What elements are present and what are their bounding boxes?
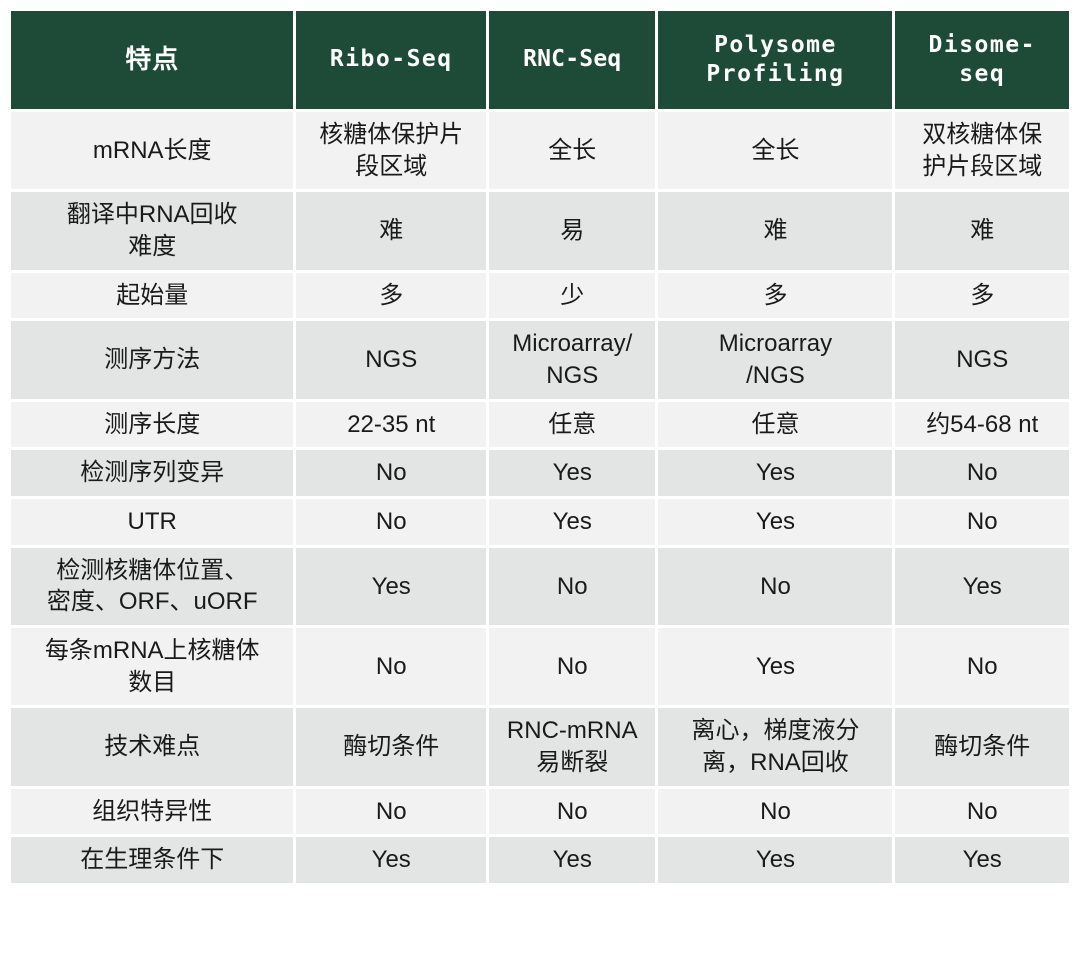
row-feature-label: 起始量 [11,273,293,319]
row-feature-label: 每条mRNA上核糖体 数目 [11,628,293,705]
cell-poly: 多 [658,273,892,319]
row-feature-label: 翻译中RNA回收 难度 [11,192,293,269]
column-header-polysome-profiling: Polysome Profiling [658,11,892,109]
table-row: 测序方法NGSMicroarray/ NGSMicroarray /NGSNGS [11,321,1069,398]
cell-ribo: NGS [296,321,486,398]
cell-rnc: Yes [489,837,655,883]
cell-poly: 任意 [658,402,892,448]
cell-poly: No [658,548,892,625]
cell-disome: No [895,499,1069,545]
cell-rnc: No [489,548,655,625]
cell-poly: Yes [658,450,892,496]
cell-disome: 多 [895,273,1069,319]
row-feature-label: 检测核糖体位置、 密度、ORF、uORF [11,548,293,625]
cell-rnc: RNC-mRNA 易断裂 [489,708,655,785]
cell-ribo: 22-35 nt [296,402,486,448]
cell-rnc: Microarray/ NGS [489,321,655,398]
cell-poly: No [658,789,892,835]
row-feature-label: UTR [11,499,293,545]
column-header-disome-seq: Disome- seq [895,11,1069,109]
cell-poly: 全长 [658,112,892,189]
table-row: 起始量多少多多 [11,273,1069,319]
cell-rnc: No [489,789,655,835]
cell-rnc: 全长 [489,112,655,189]
row-feature-label: 测序长度 [11,402,293,448]
comparison-table-container: 特点 Ribo-Seq RNC-Seq Polysome Profiling D… [0,0,1080,980]
cell-ribo: 核糖体保护片 段区域 [296,112,486,189]
cell-disome: Yes [895,548,1069,625]
cell-disome: No [895,450,1069,496]
row-feature-label: mRNA长度 [11,112,293,189]
row-feature-label: 测序方法 [11,321,293,398]
table-row: 检测核糖体位置、 密度、ORF、uORFYesNoNoYes [11,548,1069,625]
cell-poly: Yes [658,837,892,883]
column-header-feature: 特点 [11,11,293,109]
table-body: mRNA长度核糖体保护片 段区域全长全长双核糖体保 护片段区域翻译中RNA回收 … [11,112,1069,883]
cell-ribo: Yes [296,837,486,883]
cell-ribo: No [296,628,486,705]
table-row: 测序长度22-35 nt任意任意约54-68 nt [11,402,1069,448]
table-row: 技术难点酶切条件RNC-mRNA 易断裂离心，梯度液分 离，RNA回收酶切条件 [11,708,1069,785]
row-feature-label: 检测序列变异 [11,450,293,496]
cell-disome: 约54-68 nt [895,402,1069,448]
cell-disome: 双核糖体保 护片段区域 [895,112,1069,189]
table-row: mRNA长度核糖体保护片 段区域全长全长双核糖体保 护片段区域 [11,112,1069,189]
row-feature-label: 组织特异性 [11,789,293,835]
cell-poly: Yes [658,499,892,545]
cell-disome: NGS [895,321,1069,398]
header-row: 特点 Ribo-Seq RNC-Seq Polysome Profiling D… [11,11,1069,109]
cell-disome: 难 [895,192,1069,269]
cell-disome: 酶切条件 [895,708,1069,785]
cell-disome: No [895,789,1069,835]
table-row: 在生理条件下YesYesYesYes [11,837,1069,883]
cell-ribo: 难 [296,192,486,269]
cell-ribo: 酶切条件 [296,708,486,785]
cell-poly: Microarray /NGS [658,321,892,398]
cell-poly: 离心，梯度液分 离，RNA回收 [658,708,892,785]
cell-ribo: 多 [296,273,486,319]
cell-ribo: Yes [296,548,486,625]
column-header-rnc-seq: RNC-Seq [489,11,655,109]
table-row: 检测序列变异NoYesYesNo [11,450,1069,496]
cell-disome: No [895,628,1069,705]
cell-rnc: No [489,628,655,705]
technique-comparison-table: 特点 Ribo-Seq RNC-Seq Polysome Profiling D… [8,8,1072,886]
row-feature-label: 技术难点 [11,708,293,785]
cell-rnc: Yes [489,499,655,545]
table-row: UTRNoYesYesNo [11,499,1069,545]
table-row: 每条mRNA上核糖体 数目NoNoYesNo [11,628,1069,705]
cell-rnc: 易 [489,192,655,269]
cell-rnc: 任意 [489,402,655,448]
cell-rnc: 少 [489,273,655,319]
row-feature-label: 在生理条件下 [11,837,293,883]
table-row: 翻译中RNA回收 难度难易难难 [11,192,1069,269]
column-header-ribo-seq: Ribo-Seq [296,11,486,109]
cell-disome: Yes [895,837,1069,883]
cell-poly: Yes [658,628,892,705]
cell-rnc: Yes [489,450,655,496]
cell-ribo: No [296,450,486,496]
cell-ribo: No [296,499,486,545]
table-row: 组织特异性NoNoNoNo [11,789,1069,835]
table-header: 特点 Ribo-Seq RNC-Seq Polysome Profiling D… [11,11,1069,109]
cell-ribo: No [296,789,486,835]
cell-poly: 难 [658,192,892,269]
